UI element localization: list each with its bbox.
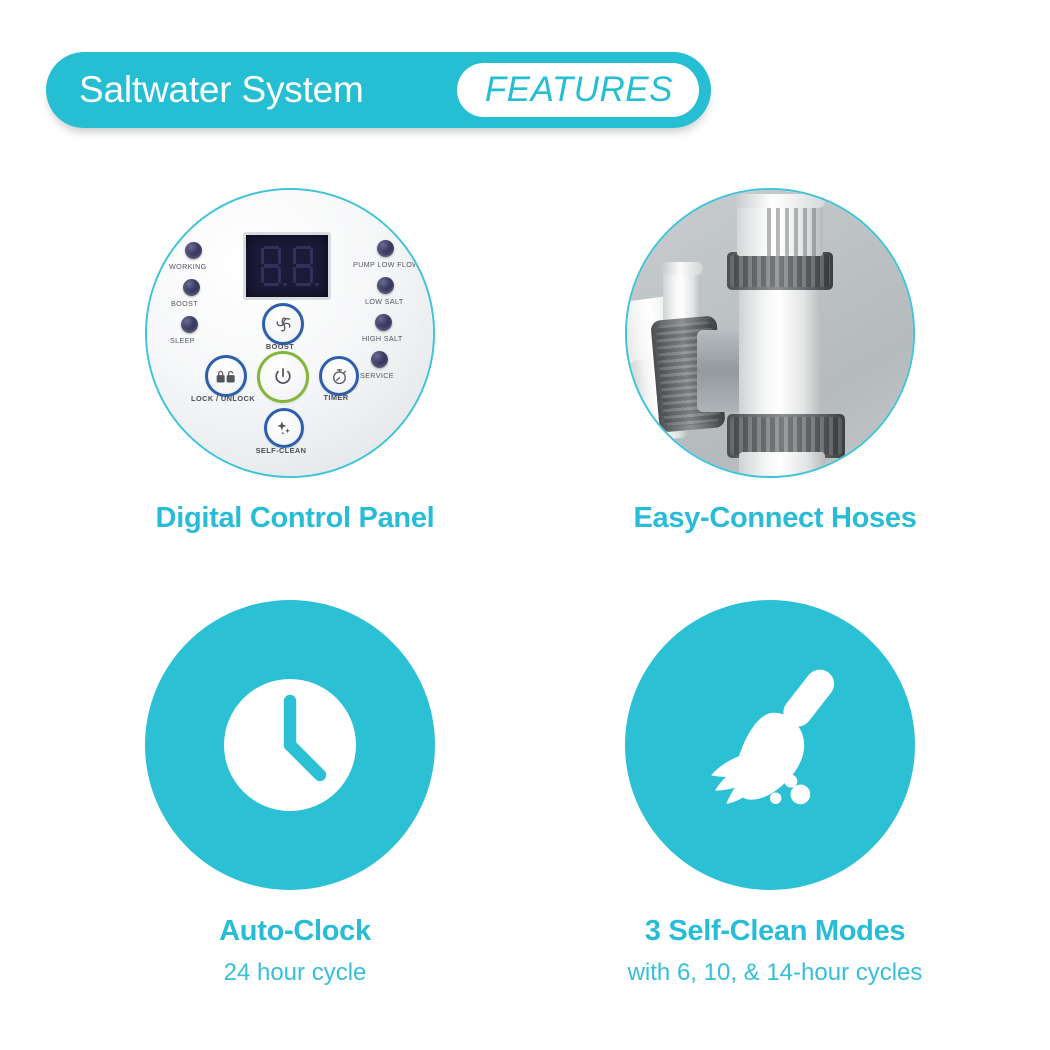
page-title: Saltwater System <box>79 69 364 111</box>
display-digit-1 <box>260 246 283 286</box>
features-pill-label: FEATURES <box>485 70 673 110</box>
padlock-icon <box>216 369 236 384</box>
features-pill: FEATURES <box>457 63 699 117</box>
display-digit-2 <box>292 246 315 286</box>
digital-display <box>243 232 331 300</box>
led-label-high-salt: HIGH SALT <box>362 334 403 343</box>
bottom-pipe <box>739 452 825 478</box>
upper-collar-threads <box>730 255 830 287</box>
swirl-icon <box>273 314 294 335</box>
self-clean-button-label: SELF-CLEAN <box>249 446 313 455</box>
rear-cap-top <box>661 262 703 275</box>
caption-self-clean-modes: 3 Self-Clean Modes <box>625 915 925 948</box>
power-icon <box>272 366 294 388</box>
feature-digital-control-panel: WORKING BOOST SLEEP PUMP LOW FLOW LOW SA… <box>145 188 445 535</box>
self-clean-button[interactable] <box>264 408 304 448</box>
led-boost <box>183 279 200 296</box>
subcaption-auto-clock: 24 hour cycle <box>145 959 445 987</box>
broom-icon <box>675 650 865 840</box>
led-label-low-salt: LOW SALT <box>365 297 404 306</box>
self-clean-icon-circle <box>625 600 915 890</box>
sparkle-icon <box>274 418 294 438</box>
led-label-sleep: SLEEP <box>170 336 195 345</box>
caption-easy-connect-hoses: Easy-Connect Hoses <box>625 502 925 535</box>
feature-self-clean-modes: 3 Self-Clean Modes with 6, 10, & 14-hour… <box>625 600 925 987</box>
timer-button[interactable] <box>319 356 359 396</box>
lock-unlock-button[interactable] <box>205 355 247 397</box>
led-label-service: SERVICE <box>360 371 394 380</box>
led-low-salt <box>377 277 394 294</box>
stopwatch-icon <box>330 367 349 386</box>
lower-collar-threads <box>730 417 842 455</box>
boost-button-label: BOOST <box>262 342 298 351</box>
timer-button-label: TIMER <box>316 393 356 402</box>
feature-auto-clock: Auto-Clock 24 hour cycle <box>145 600 445 987</box>
led-label-pump-low-flow: PUMP LOW FLOW <box>353 260 419 269</box>
led-service <box>371 351 388 368</box>
auto-clock-icon-circle <box>145 600 435 890</box>
feature-easy-connect-hoses: Easy-Connect Hoses <box>625 188 925 535</box>
control-panel-photo: WORKING BOOST SLEEP PUMP LOW FLOW LOW SA… <box>145 188 435 478</box>
hose-assembly <box>627 190 913 476</box>
strainer-top-rim <box>735 194 825 208</box>
caption-digital-control-panel: Digital Control Panel <box>145 502 445 535</box>
led-working <box>185 242 202 259</box>
led-label-working: WORKING <box>169 262 207 271</box>
subcaption-self-clean-modes: with 6, 10, & 14-hour cycles <box>625 959 925 987</box>
lock-unlock-button-label: LOCK / UNLOCK <box>185 394 261 403</box>
power-button[interactable] <box>257 351 309 403</box>
led-high-salt <box>375 314 392 331</box>
control-panel-face: WORKING BOOST SLEEP PUMP LOW FLOW LOW SA… <box>147 190 433 476</box>
led-sleep <box>181 316 198 333</box>
led-pump-low-flow <box>377 240 394 257</box>
clock-icon <box>190 645 390 845</box>
led-label-boost: BOOST <box>171 299 198 308</box>
caption-auto-clock: Auto-Clock <box>145 915 445 948</box>
header-banner: Saltwater System FEATURES <box>46 52 711 128</box>
hoses-photo <box>625 188 915 478</box>
boost-button[interactable] <box>262 303 304 345</box>
